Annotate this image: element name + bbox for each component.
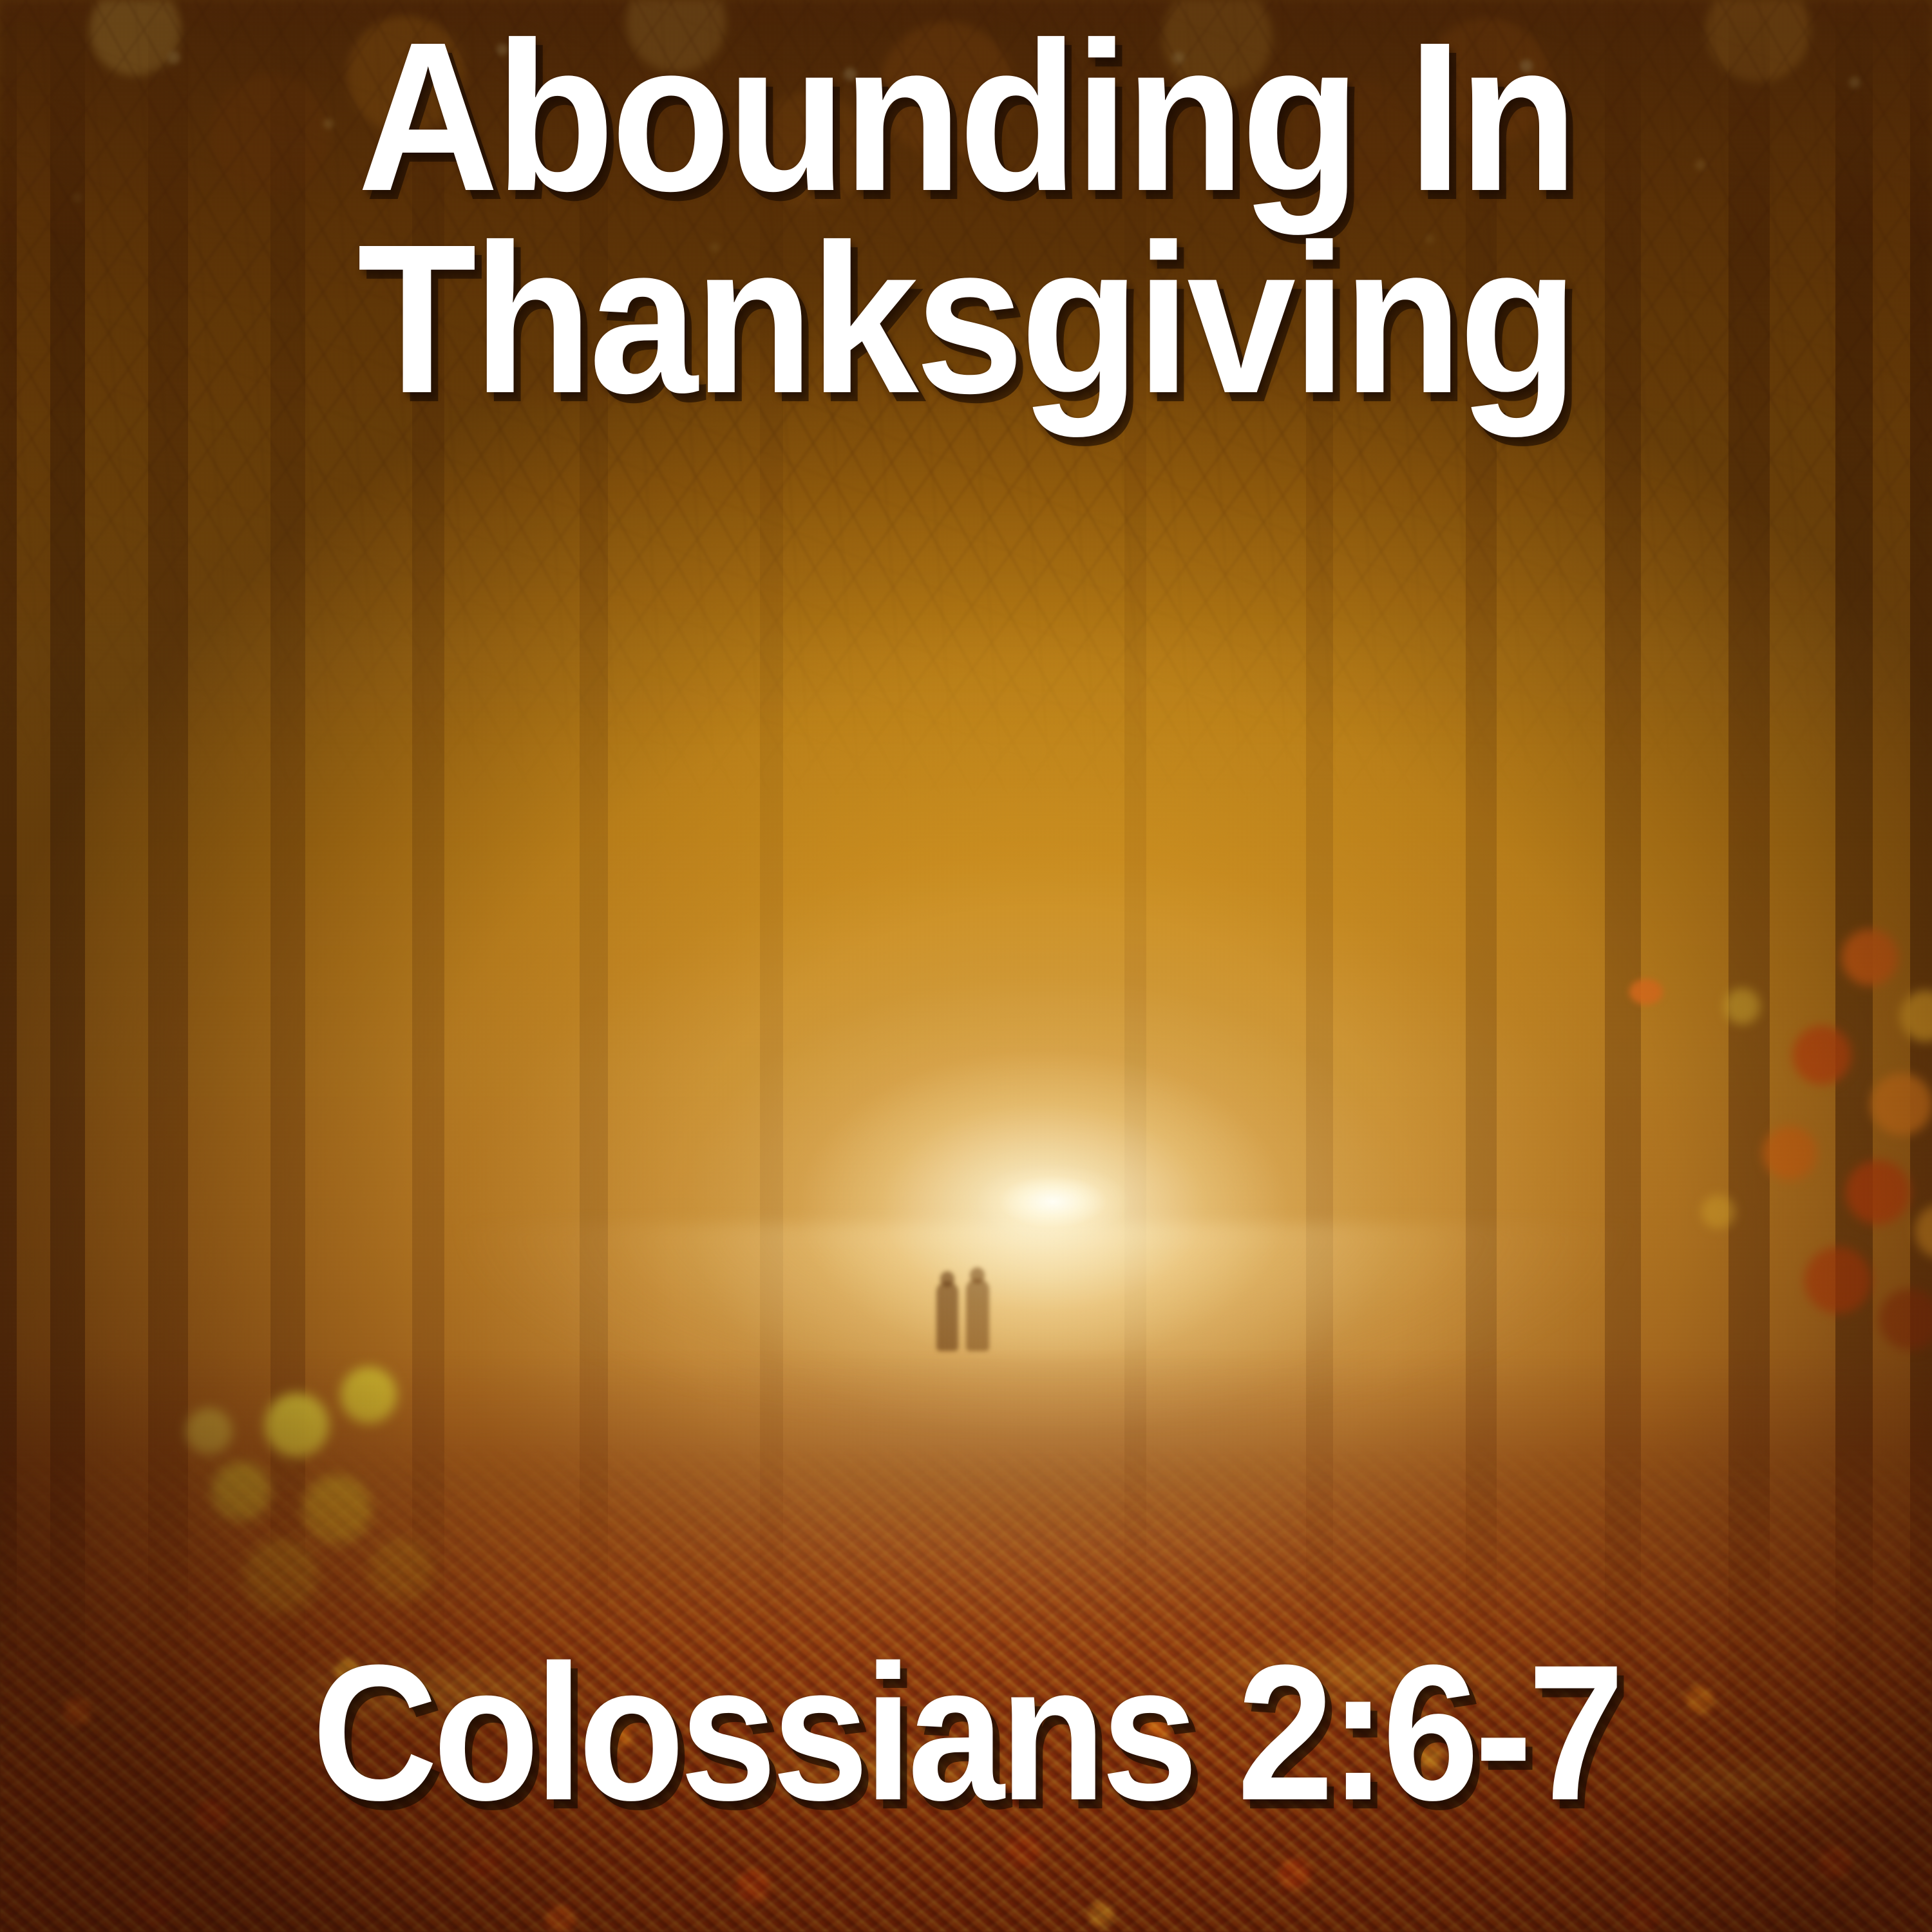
title-block: Abounding In Thanksgiving [0, 15, 1932, 419]
title-line-2: Thanksgiving [77, 218, 1855, 420]
cover-art-canvas: Abounding In Thanksgiving Colossians 2:6… [0, 0, 1932, 1932]
title-line-1: Abounding In [77, 15, 1855, 218]
scripture-reference: Colossians 2:6-7 [97, 1636, 1835, 1829]
scripture-reference-block: Colossians 2:6-7 [0, 1636, 1932, 1829]
text-overlay: Abounding In Thanksgiving Colossians 2:6… [0, 0, 1932, 1932]
